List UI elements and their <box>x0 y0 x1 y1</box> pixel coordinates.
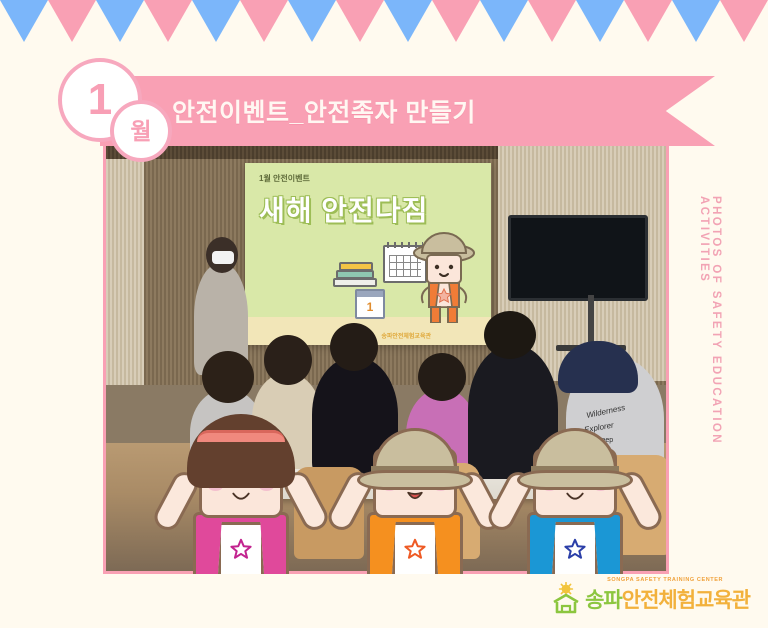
pennant-10 <box>432 0 480 42</box>
photo-frame: 1월 안전이벤트 새해 안전다짐 1 <box>103 142 669 574</box>
pennant-11 <box>480 0 528 42</box>
pennant-3 <box>96 0 144 42</box>
pennant-6 <box>240 0 288 42</box>
pennant-12 <box>528 0 576 42</box>
participant-5-head <box>484 311 536 359</box>
slide-footer-logo: 송파안전체험교육관 <box>381 331 431 340</box>
pennant-2 <box>48 0 96 42</box>
slide-calendar-day: 1 <box>357 297 383 317</box>
pennant-8 <box>336 0 384 42</box>
month-badge: 1 월 <box>58 58 188 166</box>
month-unit: 월 <box>110 100 172 162</box>
participant-2-head <box>264 335 312 385</box>
organization-logo: SONGPA SAFETY TRAINING CENTER 송파 안전체험교육관 <box>551 574 750 614</box>
slide-books-icon <box>333 259 377 287</box>
pennant-13 <box>576 0 624 42</box>
pennant-15 <box>672 0 720 42</box>
slide-desk-calendar-icon: 1 <box>355 289 385 319</box>
wall-tv <box>508 215 648 301</box>
logo-korean-prefix: 송파 <box>585 584 622 614</box>
logo-korean-main: 안전체험교육관 <box>622 584 750 614</box>
chair-2 <box>406 463 480 559</box>
pennant-14 <box>624 0 672 42</box>
chair-1 <box>294 467 364 559</box>
pennant-16 <box>720 0 768 42</box>
pennant-1 <box>0 0 48 42</box>
pennant-9 <box>384 0 432 42</box>
pennant-5 <box>192 0 240 42</box>
logo-korean-text: 송파 안전체험교육관 <box>585 584 750 614</box>
participant-5-body <box>468 345 558 479</box>
chair-4 <box>604 455 666 555</box>
pennant-4 <box>144 0 192 42</box>
shirt-text-line3: Jeep <box>598 437 613 444</box>
title-ribbon: 안전이벤트_안전족자 만들기 <box>100 76 715 146</box>
logo-english-text: SONGPA SAFETY TRAINING CENTER <box>607 577 723 583</box>
participant-3-head <box>330 323 378 371</box>
presenter-mask <box>212 251 234 264</box>
poster-page: 1월 안전이벤트 새해 안전다짐 1 <box>0 0 768 628</box>
participant-3-body <box>312 357 398 477</box>
participant-1-head <box>202 351 254 403</box>
bunting-banner <box>0 0 768 42</box>
songpa-logo-mark-icon <box>551 582 581 614</box>
event-photo: 1월 안전이벤트 새해 안전다짐 1 <box>106 145 666 571</box>
slide-eyebrow: 1월 안전이벤트 <box>259 173 310 184</box>
logo-text: SONGPA SAFETY TRAINING CENTER 송파 안전체험교육관 <box>585 577 750 614</box>
wall-light-left <box>106 145 144 385</box>
slide-mascot-icon <box>411 229 477 323</box>
chair-3 <box>538 465 610 559</box>
participant-4-head <box>418 353 466 401</box>
pennant-7 <box>288 0 336 42</box>
slide-headline: 새해 안전다짐 <box>259 189 428 229</box>
projector-screen: 1월 안전이벤트 새해 안전다짐 1 <box>245 163 491 345</box>
vertical-caption: PHOTOS OF SAFETY EDUCATION ACTIVITIES <box>698 196 722 496</box>
page-title: 안전이벤트_안전족자 만들기 <box>172 93 476 129</box>
